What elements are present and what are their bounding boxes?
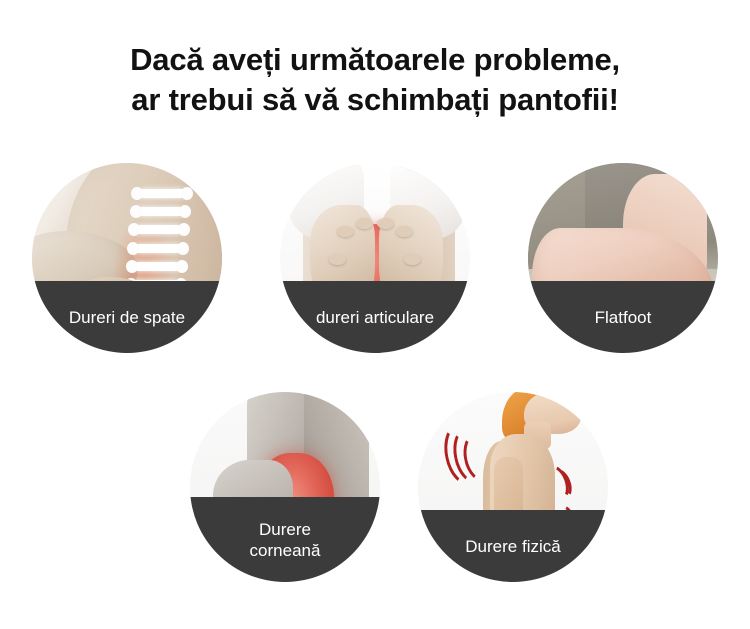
card-label: Flatfoot (589, 307, 658, 328)
card-banner: Flatfoot (528, 281, 718, 353)
card-label: dureri articulare (310, 307, 440, 328)
card-circle: Dureri de spate (32, 163, 222, 353)
card-back-pain[interactable]: Dureri de spate (32, 163, 222, 353)
card-circle: Durere corneană (190, 392, 380, 582)
card-banner: Durere fizică (418, 510, 608, 582)
card-joint-pain[interactable]: dureri articulare (280, 163, 470, 353)
page-title-line-2: ar trebui să vă schimbați pantofii! (0, 80, 750, 120)
card-circle: Flatfoot (528, 163, 718, 353)
card-circle: Durere fizică (418, 392, 608, 582)
card-banner: Durere corneană (190, 497, 380, 582)
card-corneal-pain[interactable]: Durere corneană (190, 392, 380, 582)
card-circle: dureri articulare (280, 163, 470, 353)
card-label: Durere corneană (244, 519, 327, 561)
card-physical-pain[interactable]: Durere fizică (418, 392, 608, 582)
card-banner: Dureri de spate (32, 281, 222, 353)
card-banner: dureri articulare (280, 281, 470, 353)
card-flatfoot[interactable]: Flatfoot (528, 163, 718, 353)
card-label: Dureri de spate (63, 307, 191, 328)
page-title: Dacă aveți următoarele probleme, ar treb… (0, 40, 750, 120)
page-title-line-1: Dacă aveți următoarele probleme, (130, 42, 620, 77)
card-label: Durere fizică (459, 536, 566, 557)
